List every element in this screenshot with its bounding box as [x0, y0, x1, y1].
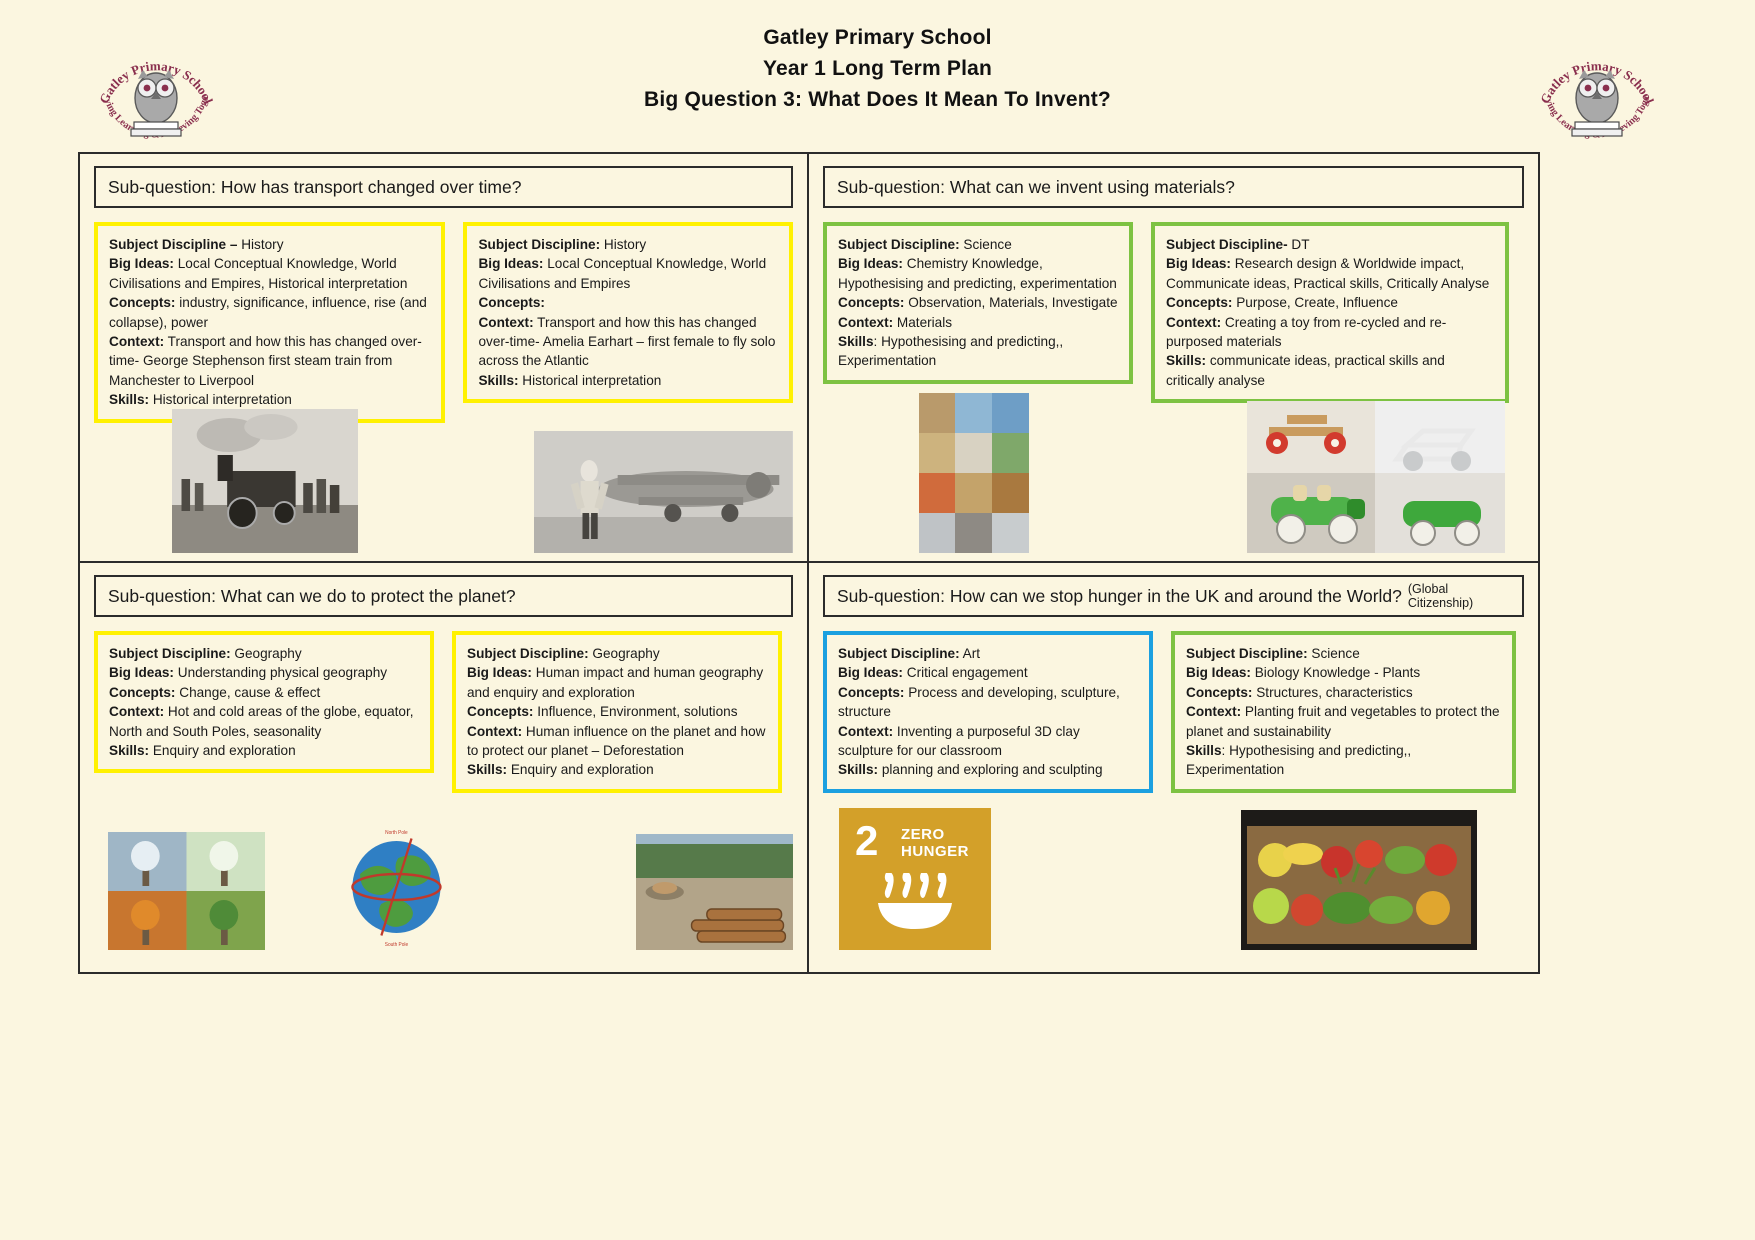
card-line: Subject Discipline – History	[109, 235, 430, 254]
svg-text:North Pole: North Pole	[385, 830, 408, 836]
card-line: Subject Discipline: History	[478, 235, 778, 254]
svg-text:South Pole: South Pole	[385, 942, 409, 948]
subquestion-note: (Global Citizenship)	[1408, 582, 1510, 610]
quadrant-planet: Sub-question: What can we do to protect …	[80, 563, 809, 972]
card-line: Subject Discipline- DT	[1166, 235, 1494, 254]
discipline-card-science: Subject Discipline: Science Big Ideas: C…	[823, 222, 1133, 384]
card-line: Concepts:	[478, 293, 778, 312]
card-line: Subject Discipline: Science	[1186, 644, 1501, 663]
subquestion-bar-planet: Sub-question: What can we do to protect …	[94, 575, 793, 617]
card-line: Context: Materials	[838, 313, 1118, 332]
card-line: Context: Planting fruit and vegetables t…	[1186, 702, 1501, 741]
card-line: Concepts: Influence, Environment, soluti…	[467, 702, 767, 721]
discipline-cards-hunger: Subject Discipline: Art Big Ideas: Criti…	[823, 631, 1524, 793]
steam-train-photo	[172, 409, 358, 553]
card-line: Concepts: Structures, characteristics	[1186, 683, 1501, 702]
subquestion-text: Sub-question: How can we stop hunger in …	[837, 586, 1402, 607]
card-line: Context: Transport and how this has chan…	[109, 332, 430, 390]
materials-collage	[919, 393, 1029, 553]
image-strip-transport	[94, 409, 793, 553]
quadrant-materials: Sub-question: What can we invent using m…	[809, 154, 1538, 563]
card-line: Context: Inventing a purposeful 3D clay …	[838, 722, 1138, 761]
fruit-vegetables-photo	[1241, 810, 1477, 950]
subquestion-bar-transport: Sub-question: How has transport changed …	[94, 166, 793, 208]
card-line: Big Ideas: Understanding physical geogra…	[109, 663, 419, 682]
card-line: Context: Transport and how this has chan…	[478, 313, 778, 371]
card-line: Skills: Historical interpretation	[478, 371, 778, 390]
school-logo-right: Gatley Primary School Enjoying Learning …	[1531, 36, 1663, 158]
sdg-label: ZERO HUNGER	[901, 826, 969, 860]
long-term-plan-grid: Sub-question: How has transport changed …	[78, 152, 1540, 974]
quadrant-transport: Sub-question: How has transport changed …	[80, 154, 809, 563]
page-header: Gatley Primary School Enjoying Learning …	[0, 0, 1755, 140]
card-line: Skills: communicate ideas, practical ski…	[1166, 351, 1494, 390]
card-line: Concepts: industry, significance, influe…	[109, 293, 430, 332]
quadrant-hunger: Sub-question: How can we stop hunger in …	[809, 563, 1538, 972]
discipline-card-art: Subject Discipline: Art Big Ideas: Criti…	[823, 631, 1153, 793]
title-line-school: Gatley Primary School	[0, 22, 1755, 53]
title-line-big-question: Big Question 3: What Does It Mean To Inv…	[0, 84, 1755, 115]
card-line: Skills: Hypothesising and predicting,, E…	[1186, 741, 1501, 780]
card-line: Big Ideas: Chemistry Knowledge, Hypothes…	[838, 254, 1118, 293]
card-line: Big Ideas: Research design & Worldwide i…	[1166, 254, 1494, 293]
card-line: Big Ideas: Local Conceptual Knowledge, W…	[478, 254, 778, 293]
subquestion-bar-hunger: Sub-question: How can we stop hunger in …	[823, 575, 1524, 617]
discipline-cards-transport: Subject Discipline – History Big Ideas: …	[94, 222, 793, 423]
sdg-label-line2: HUNGER	[901, 843, 969, 860]
title-line-year: Year 1 Long Term Plan	[0, 53, 1755, 84]
card-line: Concepts: Change, cause & effect	[109, 683, 419, 702]
subquestion-text: Sub-question: What can we do to protect …	[108, 586, 516, 607]
discipline-card-history-2: Subject Discipline: History Big Ideas: L…	[463, 222, 793, 403]
card-line: Skills: Historical interpretation	[109, 390, 430, 409]
card-line: Skills: planning and exploring and sculp…	[838, 760, 1138, 779]
deforestation-photo	[636, 834, 793, 950]
card-line: Skills: Hypothesising and predicting,, E…	[838, 332, 1118, 371]
discipline-cards-planet: Subject Discipline: Geography Big Ideas:…	[94, 631, 793, 793]
card-line: Concepts: Observation, Materials, Invest…	[838, 293, 1118, 312]
discipline-card-history-1: Subject Discipline – History Big Ideas: …	[94, 222, 445, 423]
card-line: Context: Hot and cold areas of the globe…	[109, 702, 419, 741]
discipline-cards-materials: Subject Discipline: Science Big Ideas: C…	[823, 222, 1524, 403]
four-seasons-collage	[108, 832, 265, 950]
card-line: Concepts: Purpose, Create, Influence	[1166, 293, 1494, 312]
card-line: Subject Discipline: Geography	[109, 644, 419, 663]
page-title: Gatley Primary School Year 1 Long Term P…	[0, 22, 1755, 115]
card-line: Big Ideas: Human impact and human geogra…	[467, 663, 767, 702]
sdg-label-line1: ZERO	[901, 826, 969, 843]
recycled-toy-cars-collage	[1247, 401, 1505, 553]
card-line: Big Ideas: Biology Knowledge - Plants	[1186, 663, 1501, 682]
card-line: Context: Human influence on the planet a…	[467, 722, 767, 761]
card-line: Big Ideas: Local Conceptual Knowledge, W…	[109, 254, 430, 293]
discipline-card-geography-2: Subject Discipline: Geography Big Ideas:…	[452, 631, 782, 793]
sdg-number: 2	[855, 820, 878, 862]
image-strip-materials	[823, 393, 1524, 553]
card-line: Subject Discipline: Geography	[467, 644, 767, 663]
card-line: Concepts: Process and developing, sculpt…	[838, 683, 1138, 722]
subquestion-text: Sub-question: What can we invent using m…	[837, 177, 1235, 198]
subquestion-text: Sub-question: How has transport changed …	[108, 177, 521, 198]
discipline-card-science-plants: Subject Discipline: Science Big Ideas: B…	[1171, 631, 1516, 793]
image-strip-planet: North Pole South Pole	[94, 824, 793, 950]
discipline-card-geography-1: Subject Discipline: Geography Big Ideas:…	[94, 631, 434, 773]
globe-diagram: North Pole South Pole	[339, 824, 454, 950]
discipline-card-dt: Subject Discipline- DT Big Ideas: Resear…	[1151, 222, 1509, 403]
image-strip-hunger: 2 ZERO HUNGER	[823, 808, 1524, 950]
amelia-earhart-photo	[534, 431, 793, 553]
card-line: Subject Discipline: Art	[838, 644, 1138, 663]
card-line: Context: Creating a toy from re-cycled a…	[1166, 313, 1494, 352]
sdg-zero-hunger-badge: 2 ZERO HUNGER	[839, 808, 991, 950]
card-line: Skills: Enquiry and exploration	[467, 760, 767, 779]
card-line: Subject Discipline: Science	[838, 235, 1118, 254]
card-line: Big Ideas: Critical engagement	[838, 663, 1138, 682]
soup-bowl-icon	[839, 873, 991, 936]
card-line: Skills: Enquiry and exploration	[109, 741, 419, 760]
subquestion-bar-materials: Sub-question: What can we invent using m…	[823, 166, 1524, 208]
